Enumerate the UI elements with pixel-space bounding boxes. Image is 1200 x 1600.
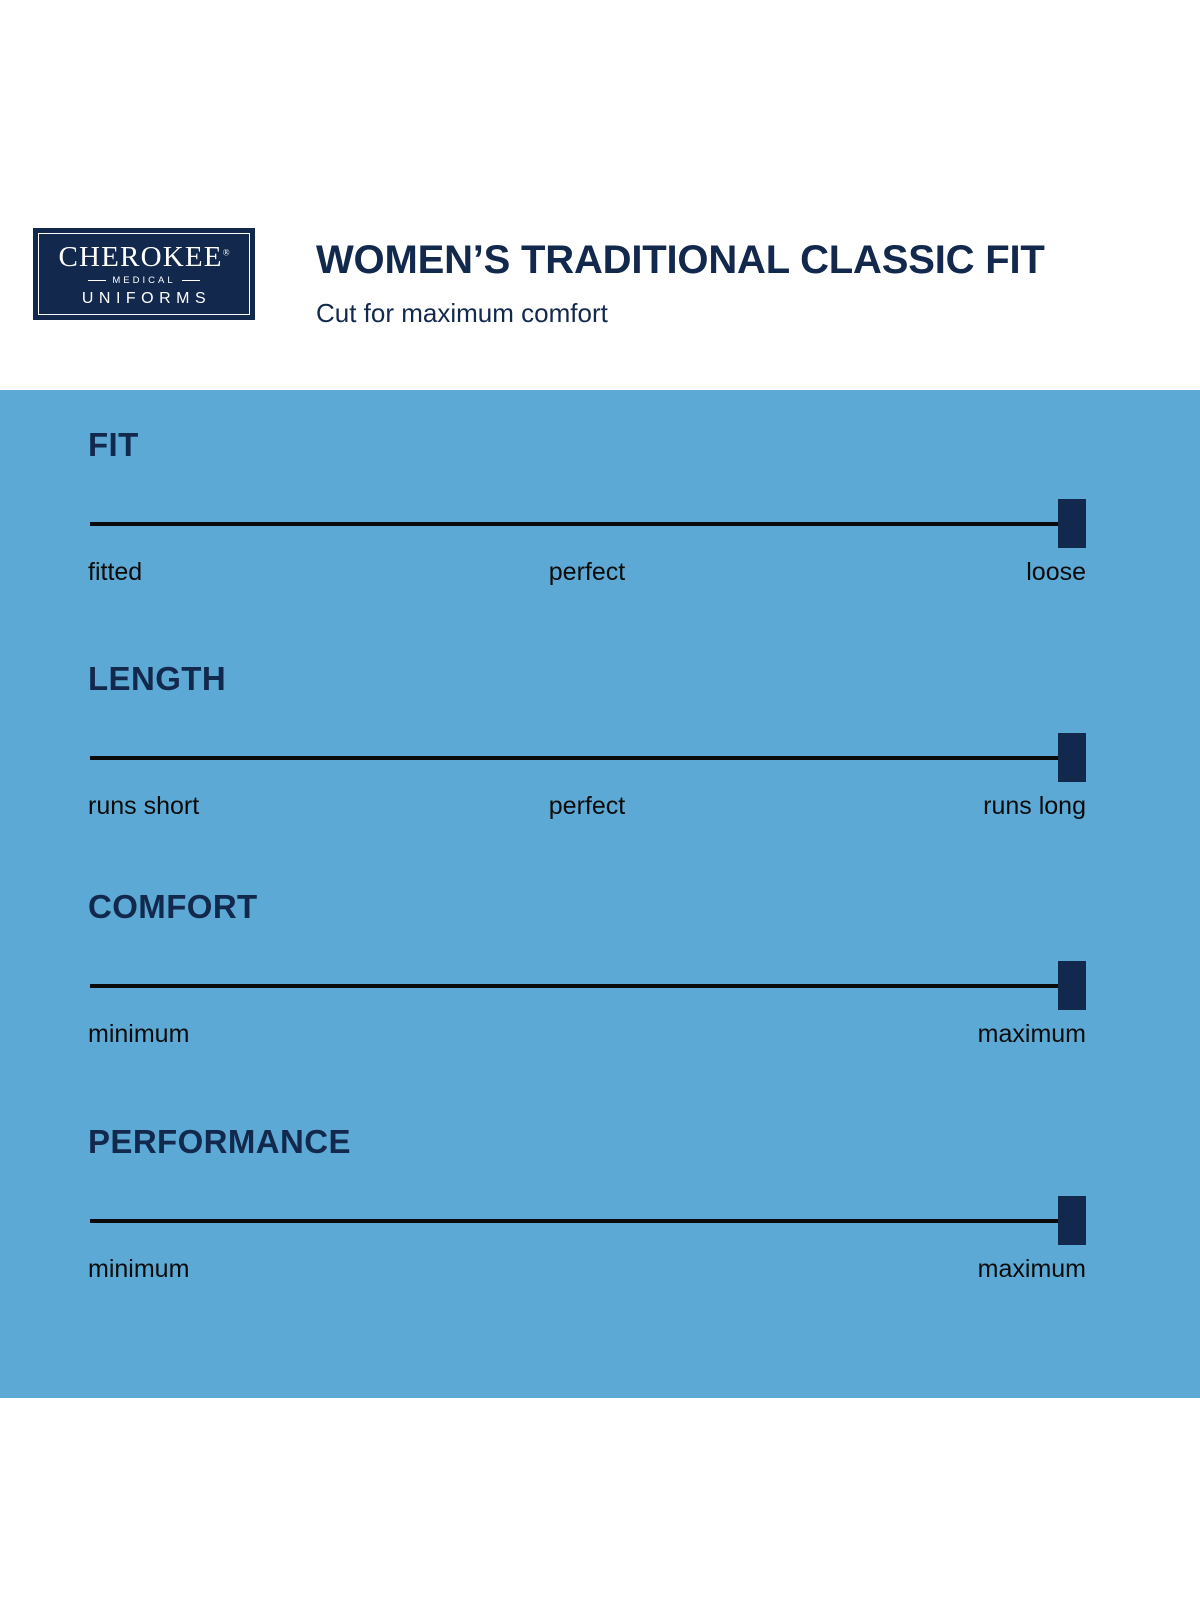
scale-label-mid-length: perfect <box>88 791 1086 821</box>
scale-heading-fit: FIT <box>88 428 1086 461</box>
scale-marker-comfort[interactable] <box>1058 961 1086 1010</box>
scale-label-min-performance: minimum <box>88 1254 189 1284</box>
page-subtitle: Cut for maximum comfort <box>316 300 1045 326</box>
logo-inner-border: CHEROKEE® MEDICAL UNIFORMS <box>38 233 250 315</box>
scale-heading-length: LENGTH <box>88 662 1086 695</box>
scale-label-mid-fit: perfect <box>88 557 1086 587</box>
scale-track-line <box>90 1219 1064 1223</box>
scale-marker-length[interactable] <box>1058 733 1086 782</box>
scale-track-performance[interactable] <box>88 1196 1086 1246</box>
logo-brand-text: CHEROKEE® <box>58 243 229 272</box>
scale-marker-fit[interactable] <box>1058 499 1086 548</box>
header: CHEROKEE® MEDICAL UNIFORMS WOMEN’S TRADI… <box>0 0 1200 390</box>
scale-comfort: COMFORT minimum maximum <box>88 890 1086 1059</box>
scale-labels-length: runs short perfect runs long <box>88 791 1086 831</box>
scale-label-max-length: runs long <box>983 791 1086 821</box>
scale-marker-performance[interactable] <box>1058 1196 1086 1245</box>
scale-labels-performance: minimum maximum <box>88 1254 1086 1294</box>
scale-heading-comfort: COMFORT <box>88 890 1086 923</box>
logo-brand-name: CHEROKEE <box>58 241 222 273</box>
scale-label-max-fit: loose <box>1026 557 1086 587</box>
scale-label-max-performance: maximum <box>978 1254 1086 1284</box>
logo-rule-left-icon <box>88 280 106 282</box>
scale-track-fit[interactable] <box>88 499 1086 549</box>
scale-track-line <box>90 756 1064 760</box>
scale-track-line <box>90 984 1064 988</box>
scale-length: LENGTH runs short perfect runs long <box>88 662 1086 831</box>
page-title: WOMEN’S TRADITIONAL CLASSIC FIT <box>316 240 1045 280</box>
logo-rule-right-icon <box>182 280 200 282</box>
scale-heading-performance: PERFORMANCE <box>88 1125 1086 1158</box>
scale-fit: FIT fitted perfect loose <box>88 428 1086 597</box>
fit-guide-page: CHEROKEE® MEDICAL UNIFORMS WOMEN’S TRADI… <box>0 0 1200 1600</box>
logo-uniforms-text: UNIFORMS <box>77 291 211 307</box>
scale-label-min-comfort: minimum <box>88 1019 189 1049</box>
scale-labels-fit: fitted perfect loose <box>88 557 1086 597</box>
cherokee-medical-uniforms-logo: CHEROKEE® MEDICAL UNIFORMS <box>33 228 255 320</box>
scale-track-comfort[interactable] <box>88 961 1086 1011</box>
scale-track-line <box>90 522 1064 526</box>
registered-trademark-icon: ® <box>223 247 230 257</box>
scale-track-length[interactable] <box>88 733 1086 783</box>
title-block: WOMEN’S TRADITIONAL CLASSIC FIT Cut for … <box>316 240 1045 326</box>
scales-panel: FIT fitted perfect loose LENGTH runs sho… <box>0 390 1200 1398</box>
logo-medical-text: MEDICAL <box>112 276 175 286</box>
logo-medical-row: MEDICAL <box>88 276 199 286</box>
scale-performance: PERFORMANCE minimum maximum <box>88 1125 1086 1294</box>
scale-label-max-comfort: maximum <box>978 1019 1086 1049</box>
scale-labels-comfort: minimum maximum <box>88 1019 1086 1059</box>
